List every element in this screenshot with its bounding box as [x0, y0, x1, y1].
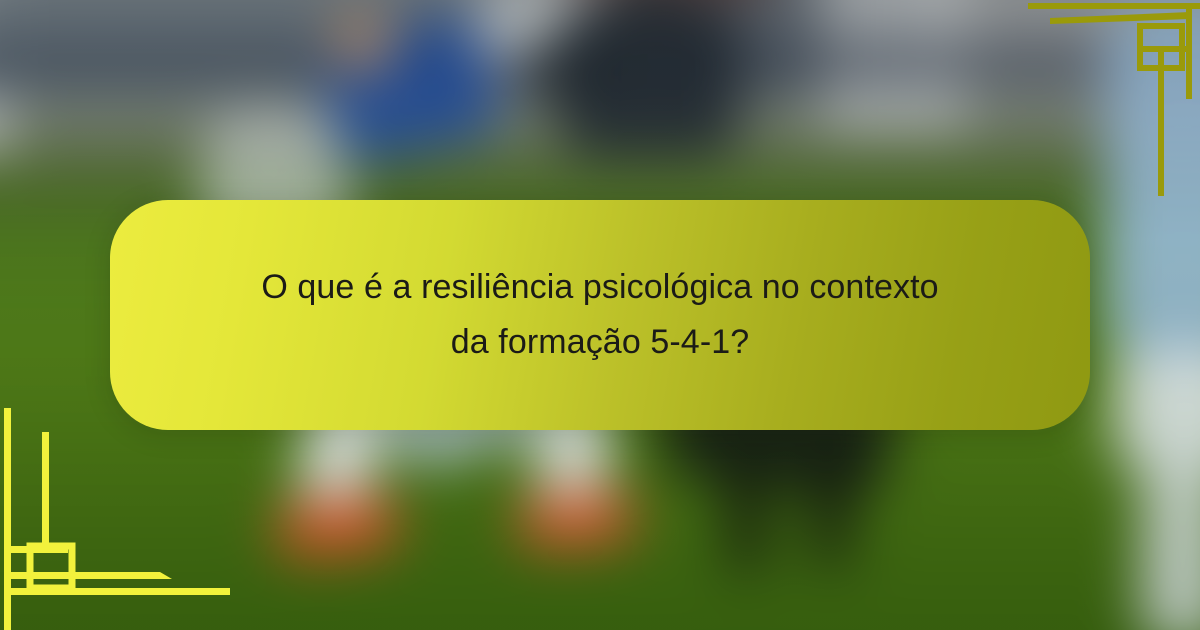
question-text: O que é a resiliência psicológica no con… [200, 260, 1000, 370]
poster-canvas: O que é a resiliência psicológica no con… [0, 0, 1200, 630]
question-card: O que é a resiliência psicológica no con… [110, 200, 1090, 430]
